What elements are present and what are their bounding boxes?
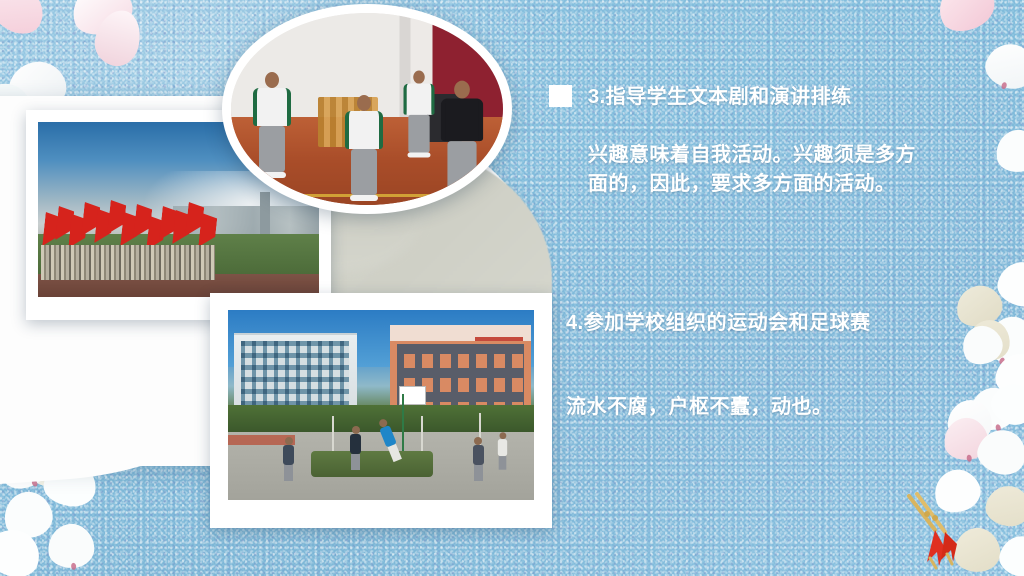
petal-icon: [980, 38, 1024, 95]
petal-icon: [0, 0, 51, 41]
high-jump-photo: [228, 310, 534, 500]
person-figure: [498, 433, 507, 470]
student-figure: [403, 70, 434, 157]
section4-body: 流水不腐，户枢不蠹，动也。: [566, 393, 946, 422]
petal-icon: [930, 0, 1001, 40]
section4-heading: 4.参加学校组织的运动会和足球赛: [566, 309, 946, 338]
section3-heading: 3.指导学生文本剧和演讲排练: [588, 84, 948, 110]
petal-icon: [996, 532, 1024, 576]
bullet-square-icon: [549, 85, 572, 107]
student-figure: [253, 72, 291, 178]
classroom-students-oval-photo: [231, 13, 503, 205]
student-figure: [345, 95, 383, 201]
slide-canvas: 3.指导学生文本剧和演讲排练 兴趣意味着自我活动。兴趣须是多方面的，因此，要求多…: [0, 0, 1024, 576]
petal-icon: [993, 126, 1024, 175]
person-figure: [350, 426, 361, 470]
section3-body: 兴趣意味着自我活动。兴趣须是多方面的，因此，要求多方面的活动。: [588, 141, 918, 199]
petal-icon: [46, 522, 96, 571]
landing-mat: [311, 451, 433, 478]
tassel-icon: [905, 492, 975, 570]
petal-icon: [983, 483, 1024, 529]
photo-frame-oval: [222, 4, 512, 214]
person-figure: [283, 437, 294, 481]
person-figure: [473, 437, 484, 481]
student-figure: [441, 81, 484, 200]
